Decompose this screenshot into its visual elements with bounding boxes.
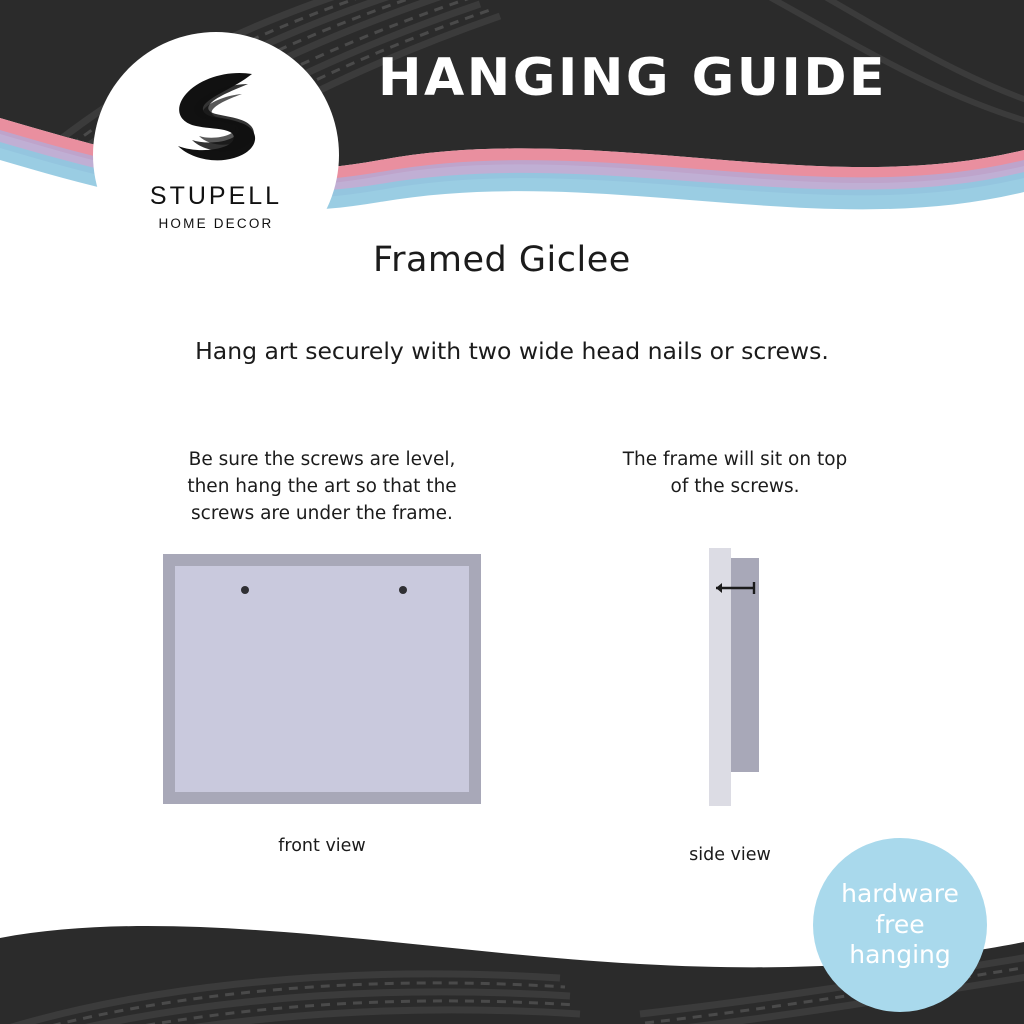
main-instruction: Hang art securely with two wide head nai… bbox=[0, 337, 1024, 365]
brand-name: STUPELL bbox=[150, 182, 282, 211]
badge-line: free bbox=[841, 910, 959, 941]
hanging-guide-page: STUPELL HOME DECOR HANGING GUIDE Framed … bbox=[0, 0, 1024, 1024]
front-view-label: front view bbox=[163, 836, 481, 856]
caption-line: The frame will sit on top bbox=[585, 447, 885, 474]
product-name: Framed Giclee bbox=[373, 240, 631, 280]
brand-tagline: HOME DECOR bbox=[158, 216, 273, 231]
screw-dot-left bbox=[241, 586, 249, 594]
hardware-free-badge: hardware free hanging bbox=[813, 838, 987, 1012]
front-view-frame-diagram bbox=[163, 554, 481, 804]
badge-line: hanging bbox=[841, 940, 959, 971]
badge-line: hardware bbox=[841, 879, 959, 910]
caption-line: then hang the art so that the bbox=[152, 474, 492, 501]
side-view-label: side view bbox=[620, 845, 840, 865]
frame-inner-area bbox=[175, 566, 469, 792]
caption-line: screws are under the frame. bbox=[152, 501, 492, 528]
caption-line: of the screws. bbox=[585, 474, 885, 501]
badge-text: hardware free hanging bbox=[841, 879, 959, 971]
page-title: HANGING GUIDE bbox=[378, 48, 887, 108]
stupell-swirl-icon bbox=[156, 60, 276, 180]
side-view-caption: The frame will sit on top of the screws. bbox=[585, 447, 885, 501]
screw-arrow-icon bbox=[714, 580, 760, 596]
caption-line: Be sure the screws are level, bbox=[152, 447, 492, 474]
front-view-caption: Be sure the screws are level, then hang … bbox=[152, 447, 492, 527]
screw-dot-right bbox=[399, 586, 407, 594]
brand-logo-badge: STUPELL HOME DECOR bbox=[93, 32, 339, 278]
